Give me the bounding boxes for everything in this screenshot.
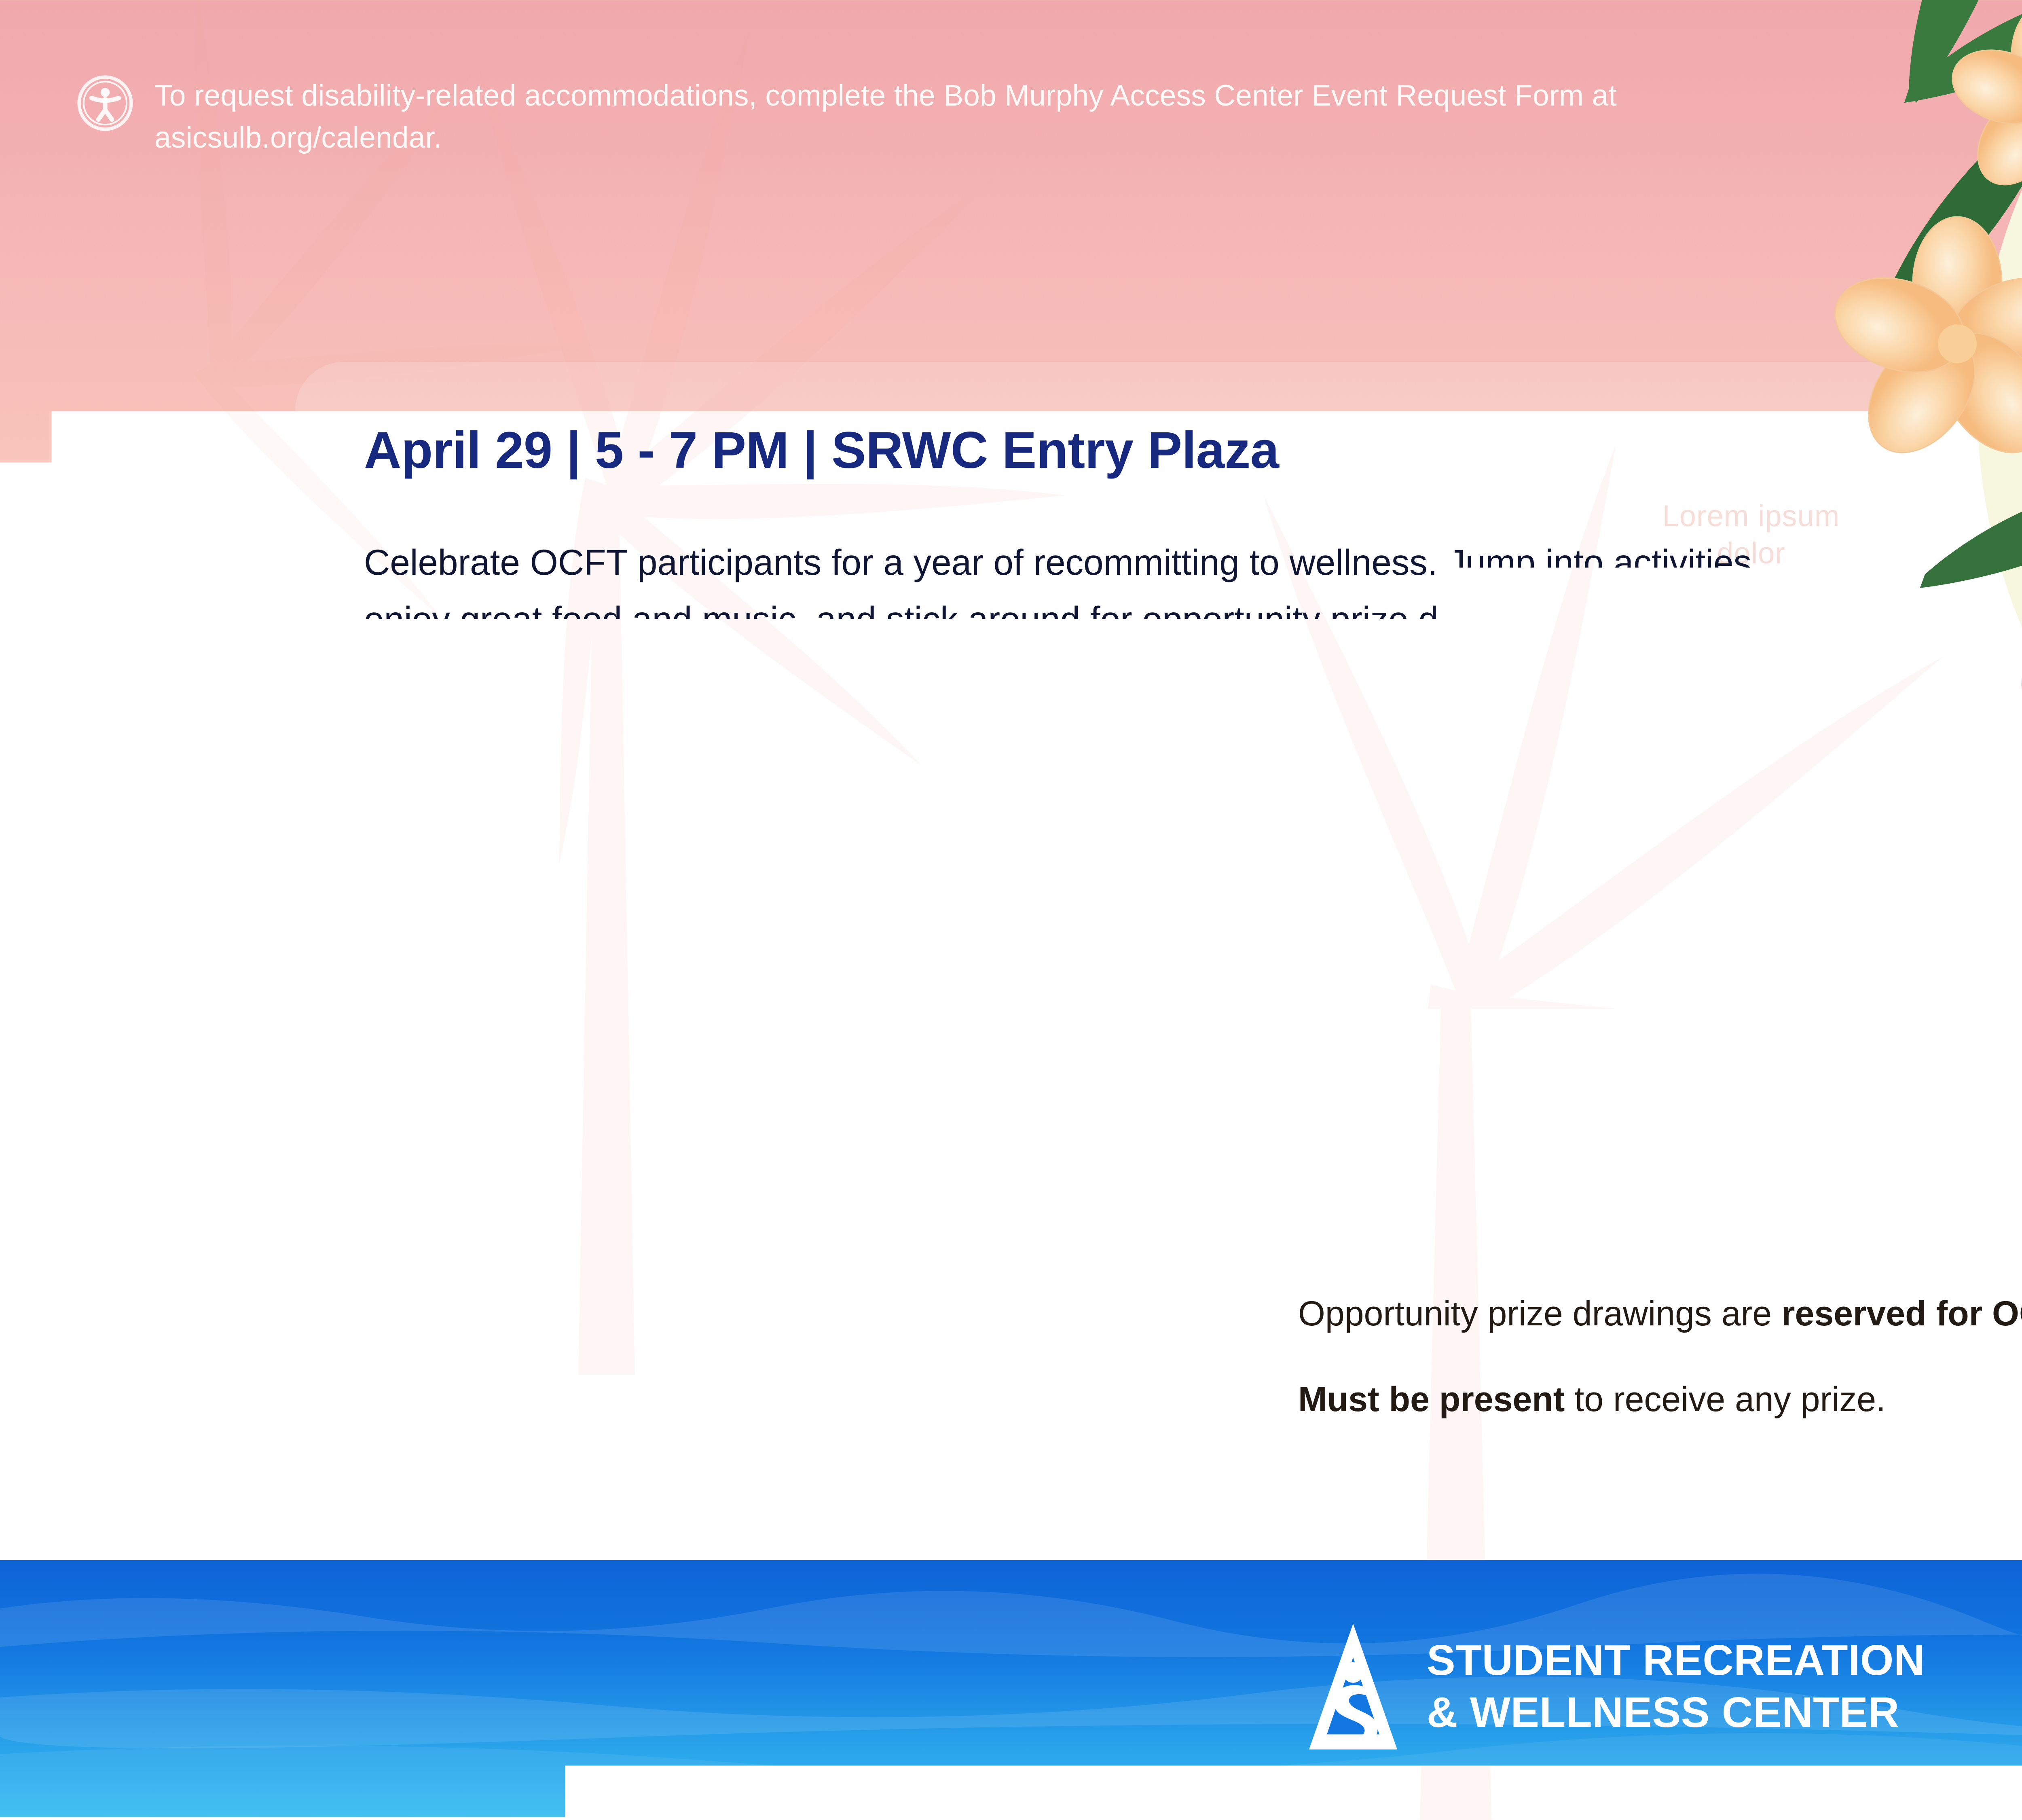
disclaimer-1-plain: Opportunity prize drawings are (1298, 1294, 1781, 1333)
asi-org-name: STUDENT RECREATION & WELLNESS CENTER (1427, 1634, 1925, 1739)
svg-text:MXNOW: MXNOW (368, 1384, 460, 1411)
disclaimer-line-1: Opportunity prize drawings are reserved … (1298, 1290, 2022, 1337)
disclaimer-1-bold: reserved for OCFT participants. (1781, 1294, 2022, 1333)
svg-text:SANTA PAULA: SANTA PAULA (654, 1386, 806, 1410)
accessibility-notice: To request disability-related accommodat… (77, 75, 1732, 159)
asi-triangle-logo (1306, 1620, 1400, 1753)
footer-banner: STUDENT RECREATION & WELLNESS CENTER asi… (0, 1560, 2022, 1820)
accessibility-icon (77, 75, 133, 131)
disclaimer-2-bold: Must be present (1298, 1380, 1565, 1419)
description-emphasis: a FREE semester of undergraduate tuition… (664, 656, 1410, 696)
asi-logo-lockup: STUDENT RECREATION & WELLNESS CENTER (1306, 1620, 1925, 1753)
org-line-2: & WELLNESS CENTER (1427, 1687, 1925, 1739)
accessibility-text: To request disability-related accommodat… (154, 75, 1732, 159)
org-line-1: STUDENT RECREATION (1427, 1634, 1925, 1687)
disclaimer-line-2: Must be present to receive any prize. (1298, 1376, 2022, 1423)
prize-disclaimer: Opportunity prize drawings are reserved … (1298, 1290, 2022, 1423)
event-headline: April 29 | 5 - 7 PM | SRWC Entry Plaza (364, 421, 1279, 480)
disclaimer-2-plain: to receive any prize. (1565, 1380, 1885, 1419)
event-description: Celebrate OCFT participants for a year o… (364, 534, 1852, 705)
